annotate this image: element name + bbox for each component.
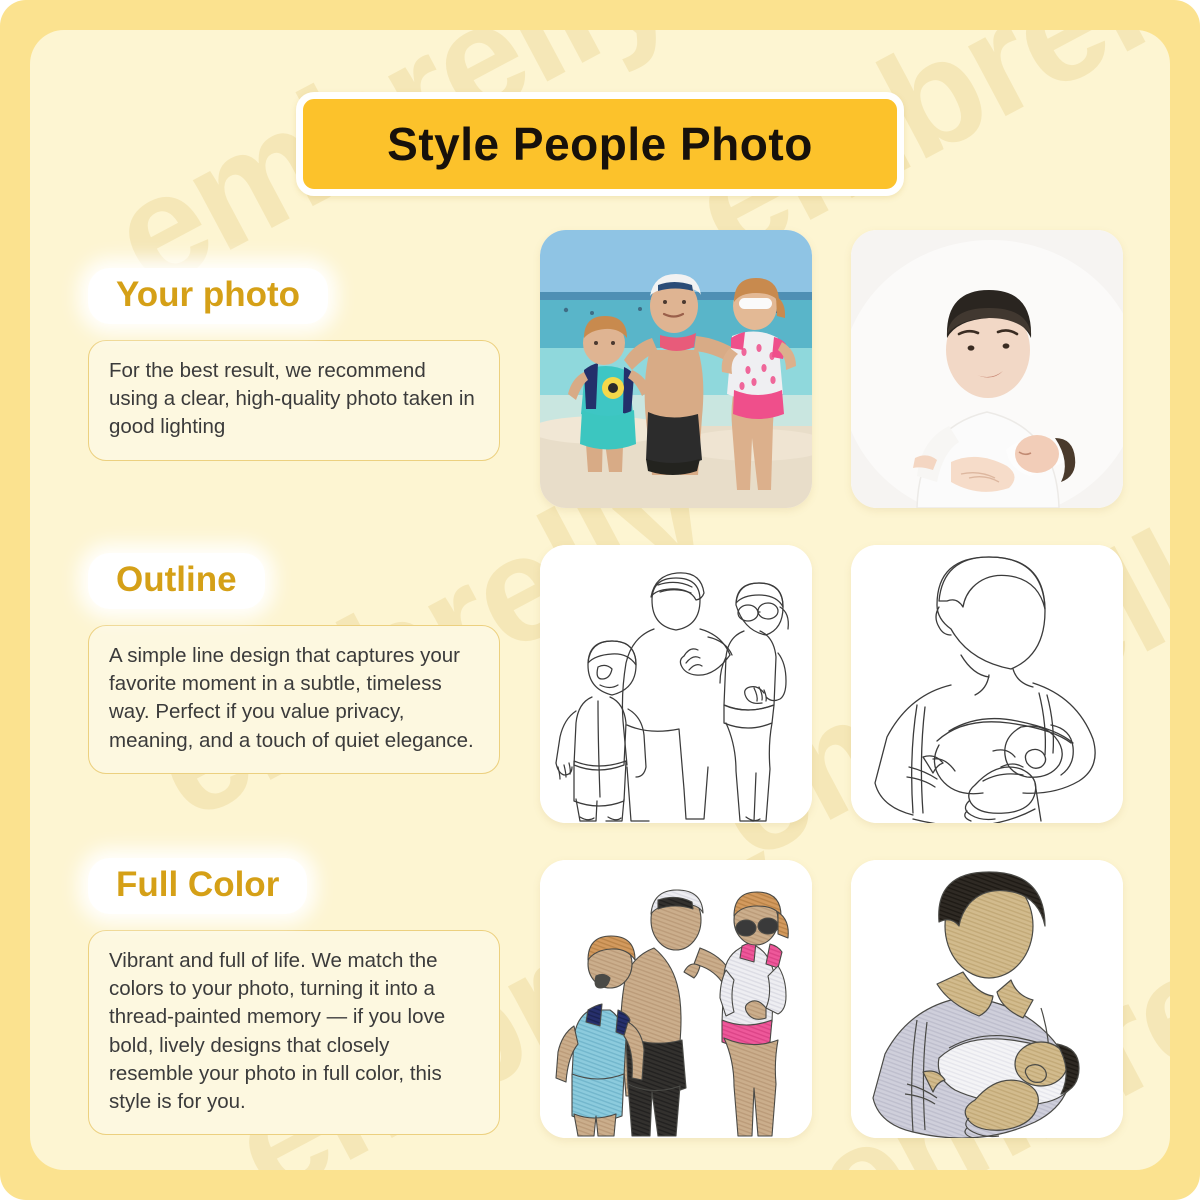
photo-beach-family-image xyxy=(540,230,812,508)
section-label-outline: Outline xyxy=(116,560,237,599)
section-your-photo: Your photo For the best result, we recom… xyxy=(88,268,500,461)
photo-father-newborn[interactable] xyxy=(851,230,1123,508)
page-title-banner: Style People Photo xyxy=(296,92,904,196)
section-label-full-color: Full Color xyxy=(116,865,279,904)
description-box-your-photo: For the best result, we recommend using … xyxy=(88,340,500,461)
section-outline: Outline A simple line design that captur… xyxy=(88,553,500,774)
outline-beach-family-image xyxy=(540,545,812,823)
description-text-outline: A simple line design that captures your … xyxy=(109,642,479,755)
outline-father-newborn[interactable] xyxy=(851,545,1123,823)
fullcolor-father-newborn[interactable] xyxy=(851,860,1123,1138)
fullcolor-father-newborn-image xyxy=(851,860,1123,1138)
section-label-pill-outline: Outline xyxy=(88,553,265,609)
outline-beach-family[interactable] xyxy=(540,545,812,823)
page-title: Style People Photo xyxy=(387,121,813,167)
description-text-your-photo: For the best result, we recommend using … xyxy=(109,357,479,442)
section-label-your-photo: Your photo xyxy=(116,275,300,314)
photo-father-newborn-image xyxy=(851,230,1123,508)
description-box-outline: A simple line design that captures your … xyxy=(88,625,500,774)
section-full-color: Full Color Vibrant and full of life. We … xyxy=(88,858,500,1135)
fullcolor-beach-family[interactable] xyxy=(540,860,812,1138)
section-label-pill-your-photo: Your photo xyxy=(88,268,328,324)
description-box-full-color: Vibrant and full of life. We match the c… xyxy=(88,930,500,1136)
poster-root: embrelly embrelly embrelly embrelly embr… xyxy=(0,0,1200,1200)
photo-beach-family[interactable] xyxy=(540,230,812,508)
outline-father-newborn-image xyxy=(851,545,1123,823)
description-text-full-color: Vibrant and full of life. We match the c… xyxy=(109,947,479,1117)
fullcolor-beach-family-image xyxy=(540,860,812,1138)
section-label-pill-full-color: Full Color xyxy=(88,858,307,914)
